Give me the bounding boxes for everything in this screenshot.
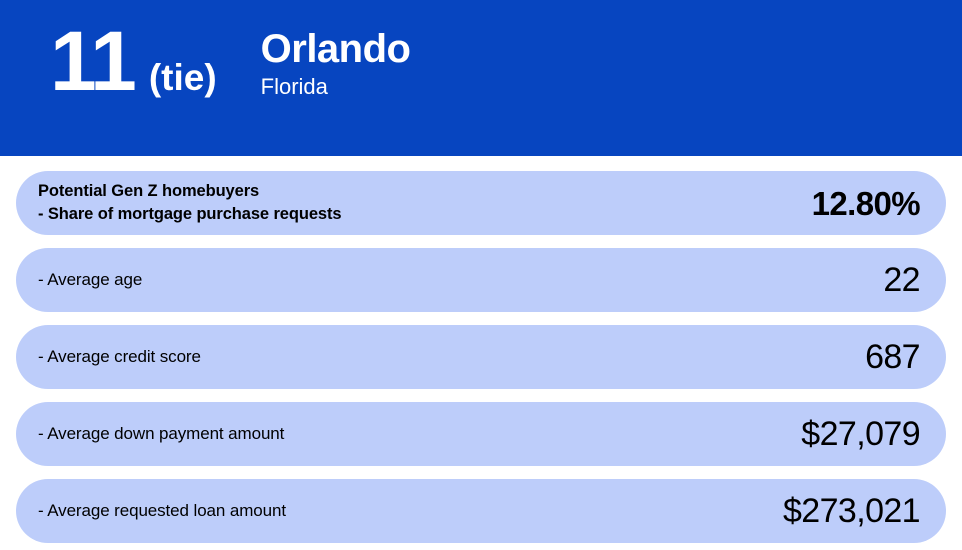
stat-label: - Average age [38, 269, 142, 291]
rank-block: 11 (tie) [50, 22, 217, 102]
stat-value: 22 [883, 263, 920, 297]
city-stat-card: 11 (tie) Orlando Florida Potential Gen Z… [0, 0, 962, 550]
stat-label: - Average requested loan amount [38, 500, 286, 522]
stat-value: $27,079 [801, 417, 920, 451]
stat-value: $273,021 [783, 494, 920, 528]
state-name: Florida [261, 73, 411, 102]
stat-label: Potential Gen Z homebuyers - Share of mo… [38, 180, 341, 227]
place-block: Orlando Florida [261, 22, 411, 102]
rank-tie-label: (tie) [149, 59, 217, 96]
stat-value: 12.80% [812, 187, 920, 220]
card-header-banner: 11 (tie) Orlando Florida [0, 0, 962, 156]
rank-number: 11 [50, 22, 135, 102]
stat-label: - Average credit score [38, 346, 201, 368]
stat-row: - Average requested loan amount $273,021 [16, 479, 946, 543]
stat-row: - Average down payment amount $27,079 [16, 402, 946, 466]
stat-row: Potential Gen Z homebuyers - Share of mo… [16, 171, 946, 235]
stat-row: - Average credit score 687 [16, 325, 946, 389]
stats-list: Potential Gen Z homebuyers - Share of mo… [16, 171, 946, 543]
header-content: 11 (tie) Orlando Florida [50, 22, 410, 102]
stat-value: 687 [865, 340, 920, 374]
stat-label: - Average down payment amount [38, 423, 284, 445]
stat-row: - Average age 22 [16, 248, 946, 312]
city-name: Orlando [261, 28, 411, 71]
